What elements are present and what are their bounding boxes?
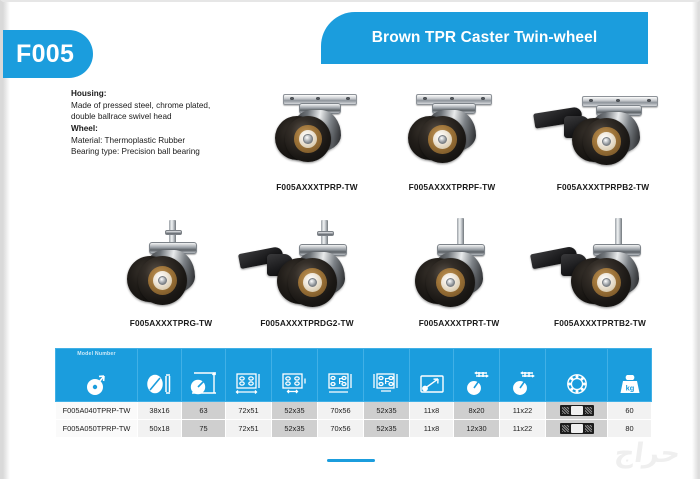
header-bolt-hole-f: F xyxy=(364,349,410,402)
header-ball-bearing xyxy=(546,349,608,402)
header-bolt-hole-spacing xyxy=(272,349,318,402)
cell-stem-size: 8x20 xyxy=(454,402,500,420)
table-row: F005A040TPRP-TW 38x16 63 72x51 52x35 70x… xyxy=(56,402,652,420)
product-item-2: F005AXXXTPRPB2-TW xyxy=(530,90,676,192)
bolt-hole-spacing-icon xyxy=(272,349,317,401)
svg-text:F: F xyxy=(384,377,389,386)
caster-stem-brake-icon xyxy=(237,218,377,316)
cell-bolt-spacing: 52x35 xyxy=(272,402,318,420)
svg-text:F: F xyxy=(338,377,343,386)
wheel-material-line: Material: Thermoplastic Rubber xyxy=(71,135,261,147)
catalog-page: Brown TPR Caster Twin-wheel F005 Housing… xyxy=(0,0,700,479)
caster-stem-swivel-icon xyxy=(395,218,523,316)
bearing-thumbnail xyxy=(560,405,594,416)
svg-text:kg: kg xyxy=(625,384,634,393)
header-top-plate-size xyxy=(226,349,272,402)
cell-model: F005A050TPRP-TW xyxy=(56,420,138,438)
specification-block: Housing: Made of pressed steel, chrome p… xyxy=(71,88,261,158)
product-code-badge: F005 xyxy=(3,30,93,78)
stem-size-icon xyxy=(454,349,499,401)
product-label-0: F005AXXXTPRP-TW xyxy=(253,182,381,192)
cell-overall-height: 63 xyxy=(182,402,226,420)
cell-swivel-radius: 11x8 xyxy=(410,402,454,420)
product-label-1: F005AXXXTPRPF-TW xyxy=(388,182,516,192)
header-overall-height xyxy=(182,349,226,402)
product-item-3: F005AXXXTPRG-TW xyxy=(107,218,235,328)
stem-length-icon xyxy=(500,349,545,401)
cell-plate-size-f: 70x56 xyxy=(318,402,364,420)
product-label-6: F005AXXXTPRTB2-TW xyxy=(527,318,673,328)
header-model-caption: Model Number xyxy=(56,351,137,357)
footer-accent-bar xyxy=(327,459,375,462)
wheel-bearing-line: Bearing type: Precision ball bearing xyxy=(71,146,261,158)
cell-plate-size-f: 70x56 xyxy=(318,420,364,438)
header-stem-length xyxy=(500,349,546,402)
cell-stem-length: 11x22 xyxy=(500,420,546,438)
caster-stem-swivel-icon xyxy=(107,218,235,316)
ball-bearing-icon xyxy=(546,349,607,401)
cell-stem-length: 11x22 xyxy=(500,402,546,420)
product-item-0: F005AXXXTPRP-TW xyxy=(253,90,381,192)
top-plate-size-icon xyxy=(226,349,271,401)
housing-line-2: double ballrace swivel head xyxy=(71,111,261,123)
swivel-radius-icon xyxy=(410,349,453,401)
cell-overall-height: 75 xyxy=(182,420,226,438)
cell-plate-size: 72x51 xyxy=(226,420,272,438)
product-item-4: F005AXXXTPRDG2-TW xyxy=(237,218,377,328)
cell-stem-size: 12x30 xyxy=(454,420,500,438)
load-capacity-kg-icon: kg xyxy=(608,349,651,401)
watermark: حراج xyxy=(613,438,682,469)
caster-plate-swivel-icon xyxy=(388,90,516,180)
cell-wheel-size: 50x18 xyxy=(138,420,182,438)
overall-height-icon xyxy=(182,349,225,401)
caster-stem-brake-icon xyxy=(527,218,673,316)
cell-wheel-size: 38x16 xyxy=(138,402,182,420)
table-header-row: Model Number xyxy=(56,349,652,402)
header-wheel-diameter-width xyxy=(138,349,182,402)
product-label-2: F005AXXXTPRPB2-TW xyxy=(530,182,676,192)
cell-swivel-radius: 11x8 xyxy=(410,420,454,438)
cell-bearing-type xyxy=(546,420,608,438)
cell-bolt-hole-f: 52x35 xyxy=(364,402,410,420)
wheel-diameter-width-icon xyxy=(138,349,181,401)
header-swivel-radius xyxy=(410,349,454,402)
cell-load-capacity: 80 xyxy=(608,420,652,438)
header-model-number: Model Number xyxy=(56,349,138,402)
product-label-3: F005AXXXTPRG-TW xyxy=(107,318,235,328)
wheel-heading: Wheel: xyxy=(71,123,261,135)
header-load-capacity: kg xyxy=(608,349,652,402)
page-title: Brown TPR Caster Twin-wheel xyxy=(372,29,597,47)
header-plate-size-f: F xyxy=(318,349,364,402)
header-stem-size xyxy=(454,349,500,402)
product-item-1: F005AXXXTPRPF-TW xyxy=(388,90,516,192)
cell-bolt-hole-f: 52x35 xyxy=(364,420,410,438)
caster-plate-brake-icon xyxy=(530,90,676,180)
cell-model: F005A040TPRP-TW xyxy=(56,402,138,420)
caster-plate-swivel-icon xyxy=(253,90,381,180)
specification-table: Model Number xyxy=(55,348,651,438)
page-title-banner: Brown TPR Caster Twin-wheel xyxy=(321,12,648,64)
product-item-5: F005AXXXTPRT-TW xyxy=(395,218,523,328)
cell-load-capacity: 60 xyxy=(608,402,652,420)
bolt-hole-f-icon: F xyxy=(364,349,409,401)
product-label-5: F005AXXXTPRT-TW xyxy=(395,318,523,328)
housing-line-1: Made of pressed steel, chrome plated, xyxy=(71,100,261,112)
table-row: F005A050TPRP-TW 50x18 75 72x51 52x35 70x… xyxy=(56,420,652,438)
product-item-6: F005AXXXTPRTB2-TW xyxy=(527,218,673,328)
cell-plate-size: 72x51 xyxy=(226,402,272,420)
cell-bolt-spacing: 52x35 xyxy=(272,420,318,438)
cell-bearing-type xyxy=(546,402,608,420)
product-code-label: F005 xyxy=(16,40,74,69)
plate-size-f-icon: F xyxy=(318,349,363,401)
bearing-thumbnail xyxy=(560,423,594,434)
housing-heading: Housing: xyxy=(71,88,261,100)
product-label-4: F005AXXXTPRDG2-TW xyxy=(237,318,377,328)
